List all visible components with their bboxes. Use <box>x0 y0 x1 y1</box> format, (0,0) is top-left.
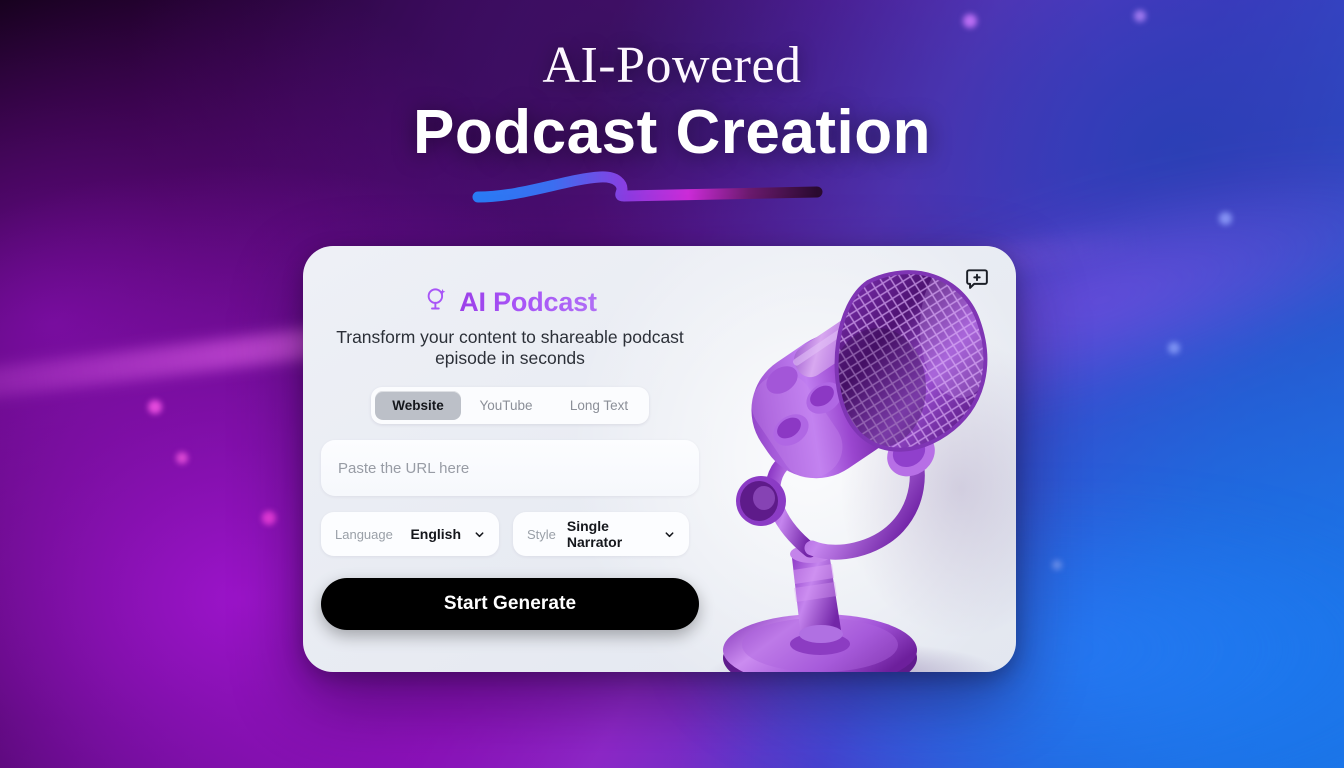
chevron-down-icon <box>474 529 485 540</box>
page-header: AI-Powered Podcast Creation <box>0 0 1344 215</box>
page-title-line1: AI-Powered <box>0 0 1344 92</box>
brand-header: AI Podcast <box>318 286 702 318</box>
start-generate-button[interactable]: Start Generate <box>321 578 699 630</box>
microphone-sparkle-icon <box>423 286 450 318</box>
bokeh-dot <box>176 452 188 464</box>
add-chat-icon[interactable] <box>960 262 994 296</box>
options-row: Language English Style Single Narrator <box>321 512 699 556</box>
tab-youtube[interactable]: YouTube <box>461 391 551 420</box>
podcast-form: AI Podcast Transform your content to sha… <box>318 286 702 630</box>
podcast-card: AI Podcast Transform your content to sha… <box>303 246 1016 672</box>
tagline: Transform your content to shareable podc… <box>318 327 702 369</box>
microphone-illustration <box>660 258 1016 672</box>
brand-name: AI Podcast <box>459 287 597 318</box>
style-value: Single Narrator <box>567 518 651 550</box>
tab-website[interactable]: Website <box>375 391 461 420</box>
chevron-down-icon <box>664 529 675 540</box>
language-label: Language <box>335 527 393 542</box>
language-value: English <box>410 526 461 542</box>
bokeh-dot <box>1052 560 1062 570</box>
bokeh-dot <box>1168 342 1180 354</box>
tab-long-text[interactable]: Long Text <box>551 391 647 420</box>
style-label: Style <box>527 527 556 542</box>
source-type-tabs: Website YouTube Long Text <box>371 387 649 424</box>
url-input[interactable]: Paste the URL here <box>321 440 699 496</box>
swoosh-underline-icon <box>0 165 1344 215</box>
bokeh-dot <box>262 511 276 525</box>
page-title-line2: Podcast Creation <box>0 98 1344 167</box>
bokeh-dot <box>148 400 162 414</box>
language-select[interactable]: Language English <box>321 512 499 556</box>
style-select[interactable]: Style Single Narrator <box>513 512 689 556</box>
